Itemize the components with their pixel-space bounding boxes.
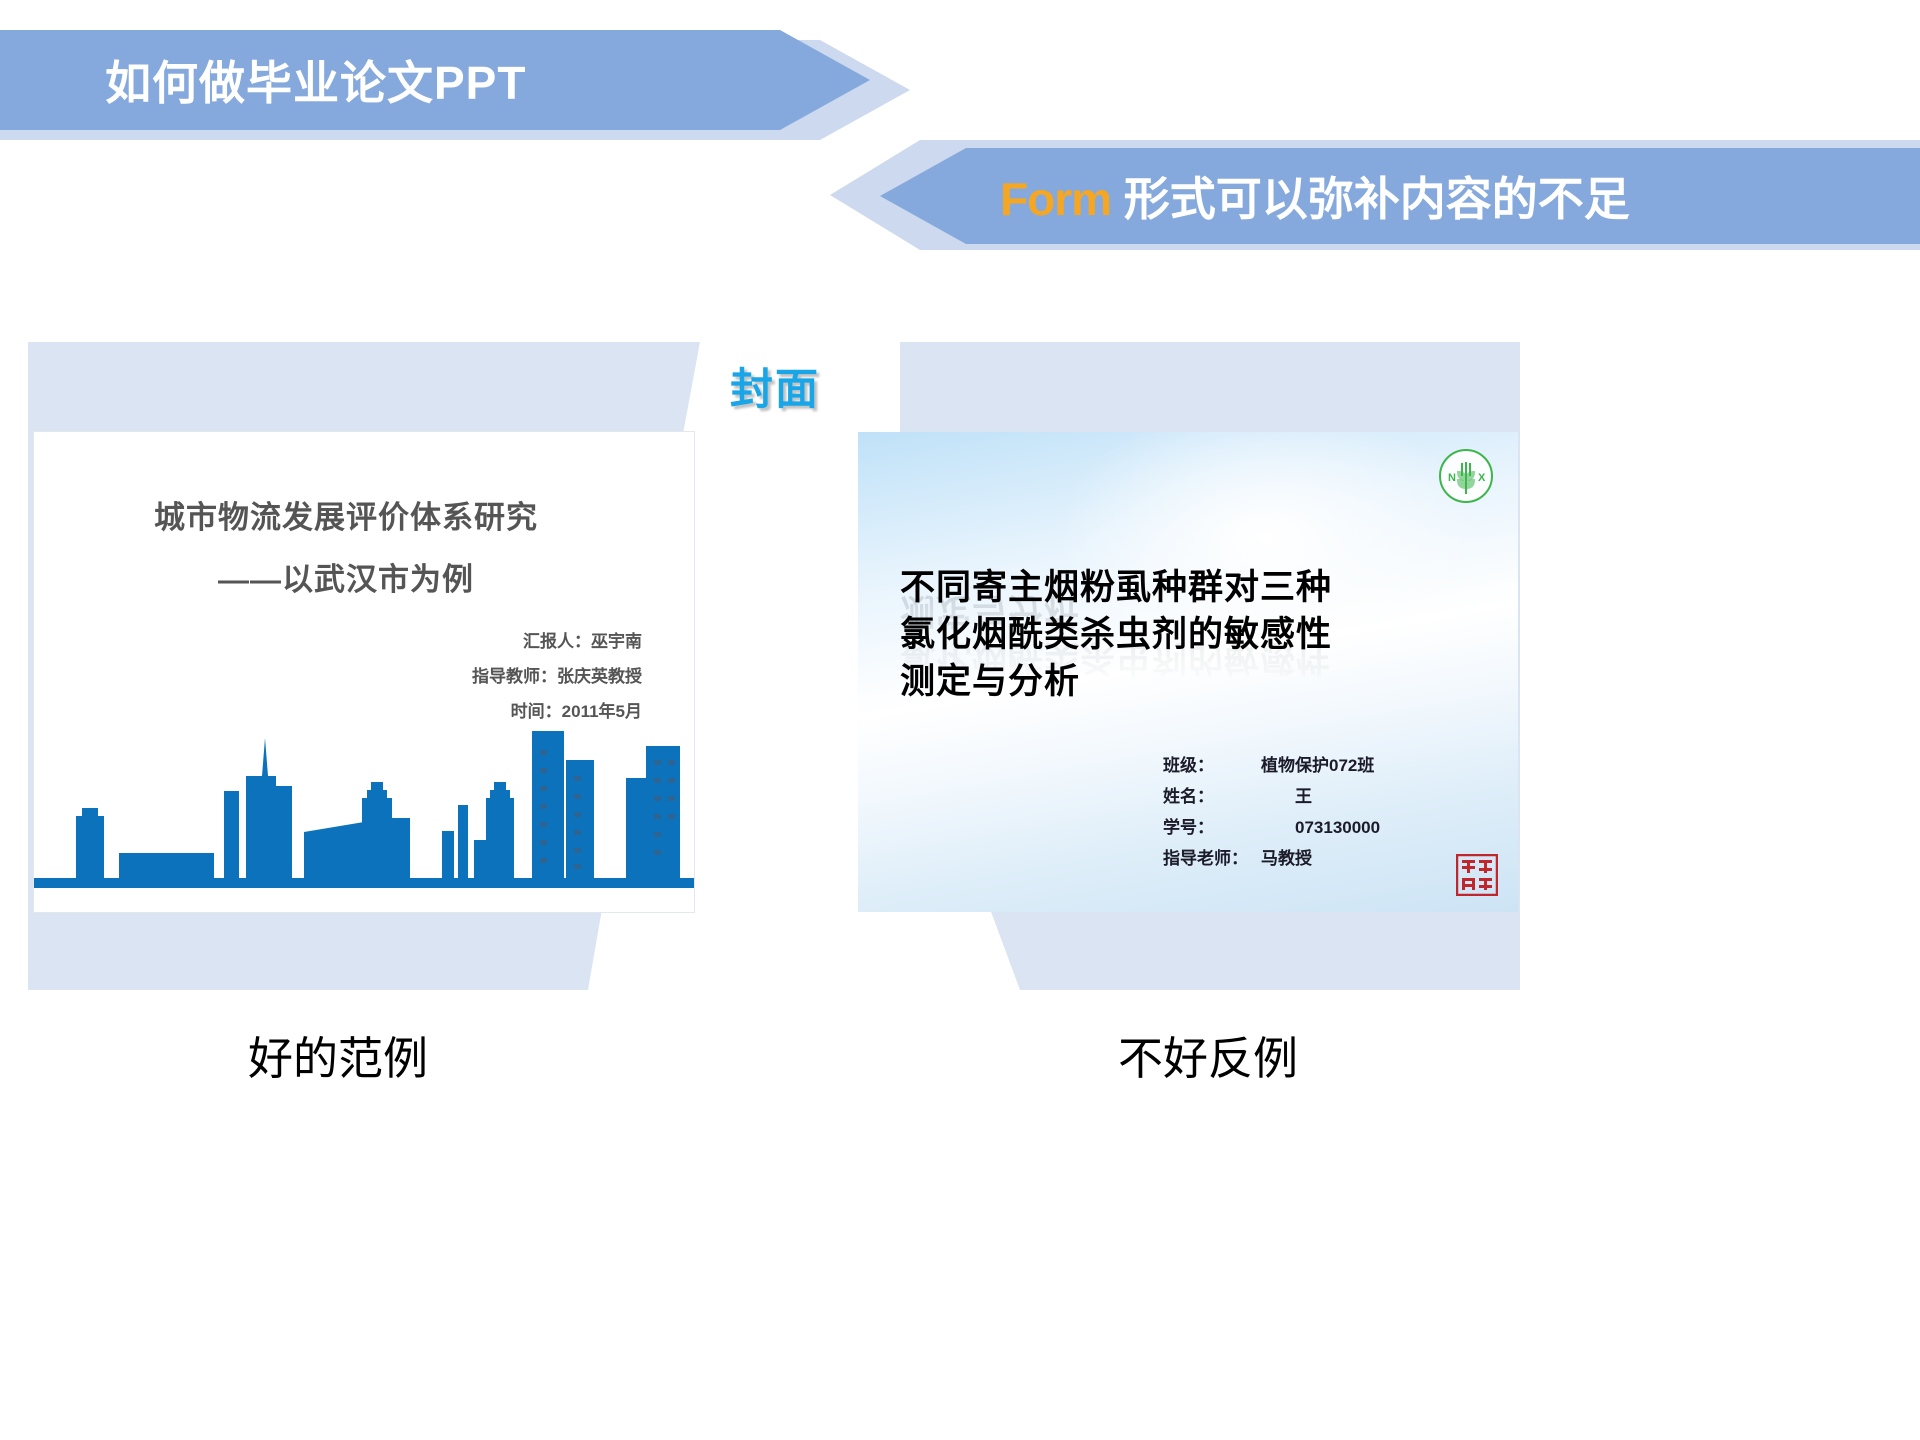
meta-value: 073130000	[1261, 812, 1380, 843]
bad-slide-title-line: 不同寄主烟粉虱种群对三种	[900, 564, 1460, 611]
good-example-slide[interactable]: 城市物流发展评价体系研究 ——以武汉市为例 汇报人：巫宇南 指导教师：张庆英教授…	[34, 432, 694, 912]
caption-good-example: 好的范例	[248, 1022, 428, 1087]
meta-key: 学号：	[1163, 812, 1261, 843]
banner-primary: 如何做毕业论文PPT	[0, 30, 870, 130]
city-skyline-icon	[34, 698, 694, 888]
bad-slide-meta-row: 姓名：王	[1163, 781, 1380, 812]
banner-secondary-text: 形式可以弥补内容的不足	[1111, 173, 1630, 225]
logo-letter-right: X	[1478, 472, 1486, 484]
meta-value: 马教授	[1261, 843, 1312, 874]
bad-slide-title-line: 测定与分析	[900, 658, 1460, 705]
meta-key: 指导老师：	[1163, 843, 1261, 874]
banner-secondary-highlight: Form	[1000, 173, 1111, 225]
bad-example-slide[interactable]: N X 不同寄主烟粉虱种群对三种 氯化烟酰类杀虫剂的敏感性 测定与分析 不同寄主…	[858, 432, 1518, 912]
good-slide-meta-line: 汇报人：巫宇南	[472, 624, 642, 659]
meta-value: 王	[1261, 781, 1312, 812]
red-seal-icon	[1456, 854, 1498, 896]
bad-slide-meta: 班级：植物保护072班 姓名：王 学号：073130000 指导老师：马教授	[1163, 750, 1380, 874]
cover-badge: 封面	[730, 355, 820, 417]
good-slide-meta-line: 指导教师：张庆英教授	[472, 659, 642, 694]
bad-slide-meta-row: 学号：073130000	[1163, 812, 1380, 843]
university-logo-icon: N X	[1436, 446, 1496, 506]
bad-slide-meta-row: 班级：植物保护072班	[1163, 750, 1380, 781]
header-banners: 如何做毕业论文PPT Form 形式可以弥补内容的不足	[0, 0, 1920, 300]
good-slide-title: 城市物流发展评价体系研究	[34, 492, 658, 537]
meta-value: 植物保护072班	[1261, 750, 1374, 781]
banner-secondary-label: Form 形式可以弥补内容的不足	[1000, 163, 1630, 229]
caption-bad-example: 不好反例	[1118, 1022, 1298, 1087]
banner-primary-label: 如何做毕业论文PPT	[105, 47, 526, 113]
banner-secondary: Form 形式可以弥补内容的不足	[880, 148, 1920, 244]
bad-slide-title-line: 氯化烟酰类杀虫剂的敏感性	[900, 611, 1460, 658]
bad-slide-meta-row: 指导老师：马教授	[1163, 843, 1380, 874]
good-slide-subtitle: ——以武汉市为例	[34, 554, 658, 599]
meta-key: 姓名：	[1163, 781, 1261, 812]
meta-key: 班级：	[1163, 750, 1261, 781]
bad-slide-title: 不同寄主烟粉虱种群对三种 氯化烟酰类杀虫剂的敏感性 测定与分析	[900, 564, 1460, 705]
logo-letter-left: N	[1448, 472, 1456, 484]
